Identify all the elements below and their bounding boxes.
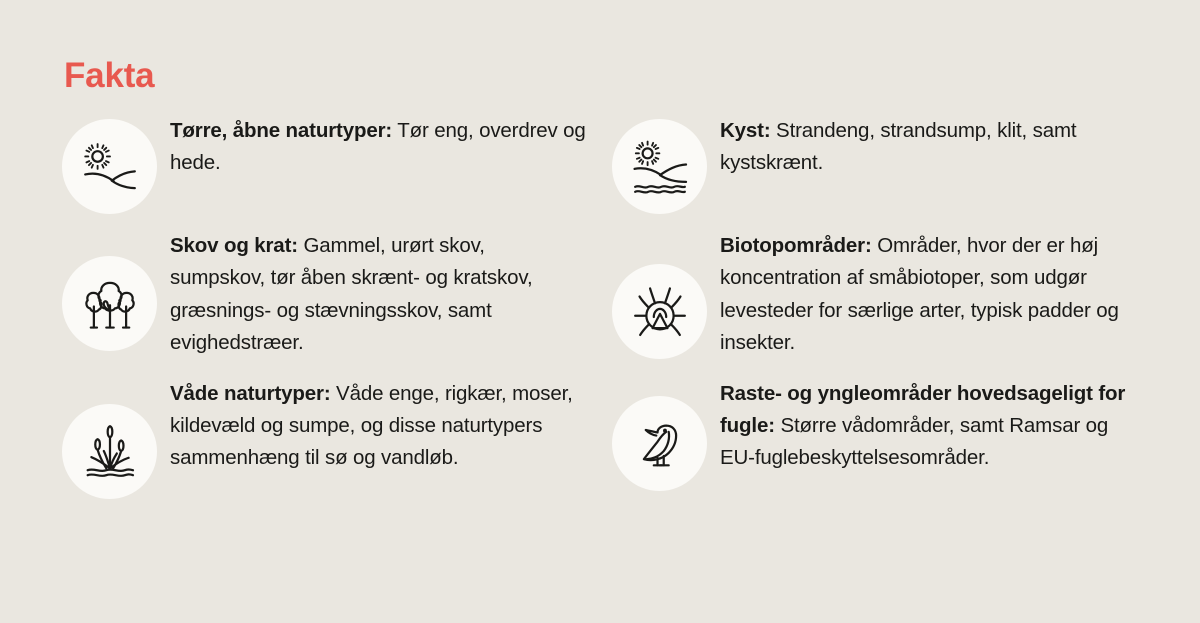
fact-lead: Kyst: bbox=[720, 119, 771, 142]
sun-over-hills-icon bbox=[62, 119, 157, 214]
fact-text: Skov og krat: Gammel, urørt skov, sumpsk… bbox=[170, 228, 580, 360]
fact-item-coast: Kyst: Strandeng, strandsump, klit, samt … bbox=[612, 113, 1200, 214]
bird-icon bbox=[612, 396, 707, 491]
fact-item-forest-scrub: Skov og krat: Gammel, urørt skov, sumpsk… bbox=[62, 228, 600, 360]
fact-item-dry-open-nature: Tørre, åbne naturtyper: Tør eng, overdre… bbox=[62, 113, 600, 214]
fact-text: Kyst: Strandeng, strandsump, klit, samt … bbox=[720, 113, 1140, 180]
fact-text: Biotopområder: Områder, hvor der er høj … bbox=[720, 228, 1120, 360]
cattails-in-water-icon bbox=[62, 404, 157, 499]
fact-item-resting-breeding-bird-areas: Raste- og yngleområder hovedsageligt for… bbox=[612, 376, 1200, 491]
three-trees-icon bbox=[62, 256, 157, 351]
fact-lead: Skov og krat: bbox=[170, 234, 298, 257]
fakta-infographic: Fakta bbox=[0, 0, 1200, 623]
beetle-insect-icon bbox=[612, 264, 707, 359]
fact-column-left: Tørre, åbne naturtyper: Tør eng, overdre… bbox=[0, 113, 600, 499]
fact-text: Tørre, åbne naturtyper: Tør eng, overdre… bbox=[170, 113, 590, 180]
fact-item-wet-nature: Våde naturtyper: Våde enge, rigkær, mose… bbox=[62, 376, 600, 499]
fact-lead: Våde naturtyper: bbox=[170, 382, 331, 405]
fact-body: Strandeng, strandsump, klit, samt kystsk… bbox=[720, 119, 1076, 174]
fact-lead: Tørre, åbne naturtyper: bbox=[170, 119, 392, 142]
fact-text: Raste- og yngleområder hovedsageligt for… bbox=[720, 376, 1138, 475]
page-title: Fakta bbox=[64, 57, 154, 96]
fact-column-right: Kyst: Strandeng, strandsump, klit, samt … bbox=[600, 113, 1200, 499]
fact-lead: Biotopområder: bbox=[720, 234, 872, 257]
fact-text: Våde naturtyper: Våde enge, rigkær, mose… bbox=[170, 376, 595, 475]
fact-body: Større vådområder, samt Ramsar og EU-fug… bbox=[720, 414, 1108, 469]
fact-columns: Tørre, åbne naturtyper: Tør eng, overdre… bbox=[0, 113, 1200, 499]
sun-coast-waves-icon bbox=[612, 119, 707, 214]
fact-item-biotope-areas: Biotopområder: Områder, hvor der er høj … bbox=[612, 228, 1200, 360]
